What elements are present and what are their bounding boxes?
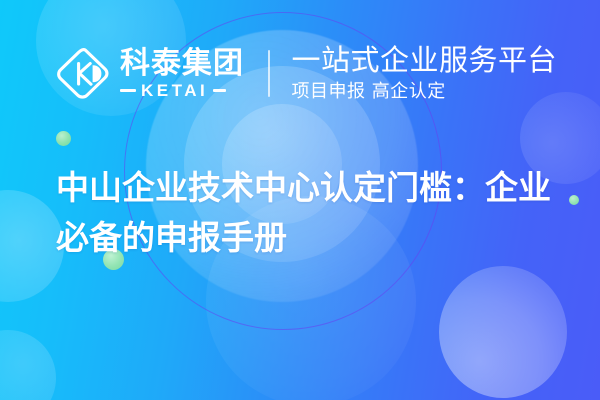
logo-name-en-row: KETAI [120, 82, 244, 100]
logo-rule-left-icon [120, 89, 136, 92]
vertical-divider-icon [268, 50, 270, 97]
ketai-monogram-icon [56, 46, 112, 102]
slogan-block: 一站式企业服务平台 项目申报 高企认定 [292, 44, 558, 103]
banner-header: 科泰集团 KETAI 一站式企业服务平台 项目申报 高企认定 [56, 44, 557, 103]
blob-circle-icon-left [0, 190, 64, 302]
logo-wordmark: 科泰集团 KETAI [120, 48, 244, 100]
promo-banner: 科泰集团 KETAI 一站式企业服务平台 项目申报 高企认定 中山企业技术中心认… [0, 0, 600, 400]
blob-circle-icon-bottom-left [0, 330, 56, 400]
mint-dot-icon-a [56, 131, 71, 146]
logo-rule-right-icon [213, 89, 226, 92]
logo-name-en: KETAI [141, 82, 208, 100]
logo-name-cn: 科泰集团 [120, 48, 244, 80]
page-title: 中山企业技术中心认定门槛：企业必备的申报手册 [56, 163, 564, 263]
slogan-main: 一站式企业服务平台 [292, 44, 558, 77]
mint-dot-icon-c [569, 195, 579, 205]
slogan-sub: 项目申报 高企认定 [292, 81, 558, 103]
blob-circle-icon-bottom-right [439, 266, 567, 398]
